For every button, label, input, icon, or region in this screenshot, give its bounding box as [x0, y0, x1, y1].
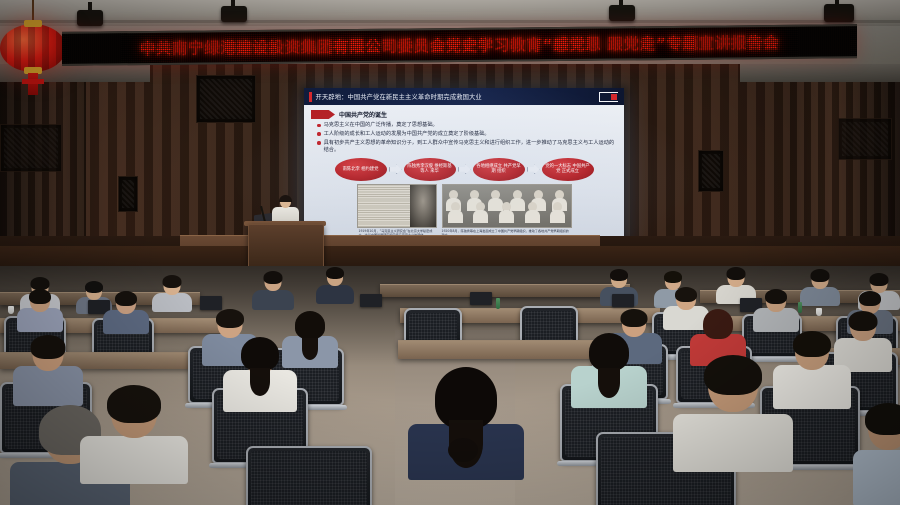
- attendee-hair: [793, 331, 831, 357]
- attendee-hair: [107, 385, 161, 423]
- ceiling-spotlight: [609, 5, 635, 21]
- attendee-hair: [264, 271, 283, 284]
- speaker-podium: [248, 224, 324, 268]
- attendee-hair: [29, 289, 51, 304]
- mesh-back-conference-chair: [246, 446, 372, 505]
- conference-hall-photo: 中共南宁绿港建设投资集团有限公司委员会党史学习教育“感党恩 跟党走”专题宣讲报告…: [0, 0, 900, 505]
- lantern-tassel-cross: [22, 79, 44, 84]
- newspaper-clipping: [358, 185, 410, 227]
- chevron-banner-icon: [311, 110, 335, 119]
- ceiling-spotlight: [221, 6, 247, 22]
- flow-node: 陈独秀李汉俊 维经斯基等人 来华: [404, 158, 456, 181]
- attendee-hair: [31, 335, 66, 359]
- ceiling-seam: [0, 20, 900, 23]
- seated-attendee: [858, 404, 900, 504]
- company-logo-icon: [598, 91, 619, 102]
- presenter-hair: [279, 195, 292, 202]
- bullet-dot-icon: [317, 132, 321, 136]
- slide-bullet: 工人阶级的成长和工人运动的发展为中国共产党的成立奠定了阶级基础。: [311, 131, 617, 138]
- attendee-laptop: [360, 294, 382, 307]
- attendee-hair: [704, 355, 762, 395]
- seated-attendee: [316, 268, 354, 302]
- attendee-hair: [589, 333, 629, 371]
- slide-bullet-text: 马克思主义在中国的广泛传播，奠定了思想基础。: [324, 122, 438, 129]
- red-paper-lantern: [0, 24, 66, 72]
- slide-header: 开天辟地：中国共产党在新民主主义革命时期完成救国大业: [304, 88, 624, 105]
- attendee-hair: [859, 291, 881, 306]
- slide-section-label: 中国共产党的诞生: [339, 110, 387, 119]
- attendee-hair: [870, 273, 889, 286]
- attendee-hair: [664, 271, 682, 283]
- slide-bullet: 具有初步共产主义思想的革命知识分子，到工人群众中宣传马克思主义和进行组织工作，进…: [311, 140, 617, 154]
- slide-body: 中国共产党的诞生 马克思主义在中国的广泛传播，奠定了思想基础。 工人阶级的成长和…: [304, 105, 624, 254]
- slide-photo-group: [311, 184, 617, 228]
- historical-group-photo: [442, 184, 572, 228]
- seated-attendee: [18, 290, 62, 330]
- logo-mark: [599, 92, 618, 102]
- attendee-hair: [326, 267, 344, 279]
- attendee-ponytail: [302, 338, 318, 360]
- water-bottle: [798, 302, 802, 313]
- attendee-shoulders: [673, 414, 793, 472]
- lantern-cap-top: [24, 20, 42, 27]
- attendee-ponytail: [598, 368, 620, 398]
- led-banner-panel: 中共南宁绿港建设投资集团有限公司委员会党史学习教育“感党恩 跟党走”专题宣讲报告…: [65, 29, 854, 61]
- attendee-shoulders: [316, 285, 354, 304]
- attendee-hair: [241, 337, 279, 371]
- seated-attendee: [800, 270, 840, 304]
- arrow-right-icon: [527, 164, 540, 174]
- seated-attendee: [252, 272, 294, 308]
- paper-cup: [816, 308, 822, 316]
- historical-portrait: [410, 185, 436, 227]
- attendee-shoulders: [80, 436, 188, 484]
- bullet-dot-icon: [317, 141, 321, 145]
- attendee-laptop: [470, 292, 492, 305]
- ceiling-spotlight: [824, 4, 854, 22]
- led-banner-text: 中共南宁绿港建设投资集团有限公司委员会党史学习教育“感党恩 跟党走”专题宣讲报告…: [140, 31, 779, 59]
- attendee-hair: [163, 275, 182, 288]
- attendee-hair: [295, 311, 325, 339]
- attendee-hair-bun: [448, 438, 478, 462]
- flow-node: 南陈北李 相约建党: [335, 158, 387, 181]
- attendee-shoulders: [252, 290, 294, 310]
- seated-attendee: [716, 268, 756, 302]
- seated-attendee: [86, 386, 182, 476]
- ceiling-spotlight: [77, 10, 103, 26]
- seated-attendee: [16, 336, 80, 400]
- attendee-shoulders: [853, 450, 900, 505]
- seated-attendee: [680, 356, 786, 466]
- slide-header-accent-bar: [309, 92, 312, 102]
- attendee-hair: [865, 403, 900, 435]
- wall-mounted-loudspeaker: [196, 75, 256, 123]
- attendee-laptop: [612, 294, 634, 307]
- slide-bullet-text: 具有初步共产主义思想的革命知识分子，到工人群众中宣传马克思主义和进行组织工作，进…: [324, 140, 617, 154]
- attendee-ponytail: [250, 368, 270, 396]
- attendee-hair: [621, 309, 648, 327]
- slide-bullet: 马克思主义在中国的广泛传播，奠定了思想基础。: [311, 122, 617, 129]
- slide-bullet-text: 工人阶级的成长和工人运动的发展为中国共产党的成立奠定了阶级基础。: [324, 131, 490, 138]
- attendee-hair: [85, 281, 103, 293]
- attendee-hair: [115, 291, 137, 306]
- attendee-hair: [216, 309, 244, 328]
- bullet-dot-icon: [317, 124, 321, 128]
- arrow-right-icon: [389, 164, 402, 174]
- flow-node: 党的一大标志 中国共产党 正式成立: [542, 158, 594, 181]
- lantern-tassel: [28, 73, 38, 95]
- attendee-hair: [765, 289, 787, 304]
- seated-attendee: [574, 334, 644, 402]
- audience-desk: [380, 284, 630, 297]
- projection-screen: 开天辟地：中国共产党在新民主主义革命时期完成救国大业 中国共产党的诞生 马克思主…: [304, 88, 624, 254]
- paper-cup: [8, 306, 14, 314]
- attendee-hair: [727, 267, 746, 280]
- attendee-shoulders: [152, 293, 192, 312]
- seated-attendee: [152, 276, 192, 310]
- seated-attendee: [754, 290, 798, 330]
- slide-section-tag: 中国共产党的诞生: [311, 110, 617, 119]
- wall-mounted-loudspeaker: [698, 150, 724, 192]
- attendee-laptop: [200, 296, 222, 310]
- right-soffit: [740, 64, 900, 82]
- attendee-hair: [610, 269, 628, 281]
- attendee-hair: [811, 269, 830, 282]
- seated-attendee: [104, 292, 148, 332]
- attendee-shoulders: [800, 287, 840, 306]
- attendee-hair: [675, 287, 697, 302]
- water-bottle: [496, 298, 500, 309]
- attendee-shoulders: [13, 366, 83, 406]
- wall-mounted-loudspeaker: [0, 124, 62, 172]
- seated-attendee: [776, 332, 848, 402]
- attendee-hair: [849, 311, 878, 331]
- seated-attendee: [226, 338, 294, 406]
- wall-mounted-loudspeaker: [118, 176, 138, 212]
- flow-node: 各地相继成立 共产党早期 组织: [473, 158, 525, 181]
- presentation-slide: 开天辟地：中国共产党在新民主主义革命时期完成救国大业 中国共产党的诞生 马克思主…: [304, 88, 624, 254]
- historical-document-photo: [357, 184, 437, 228]
- slide-flow-diagram: 南陈北李 相约建党 陈独秀李汉俊 维经斯基等人 来华 各地相继成立 共产党早期 …: [311, 158, 617, 181]
- seated-attendee: [414, 368, 518, 476]
- attendee-hair: [703, 309, 733, 339]
- arrow-right-icon: [458, 164, 471, 174]
- logo-accent-square: [611, 94, 617, 100]
- slide-title: 开天辟地：中国共产党在新民主主义革命时期完成救国大业: [316, 92, 482, 101]
- wall-mounted-loudspeaker: [838, 118, 892, 160]
